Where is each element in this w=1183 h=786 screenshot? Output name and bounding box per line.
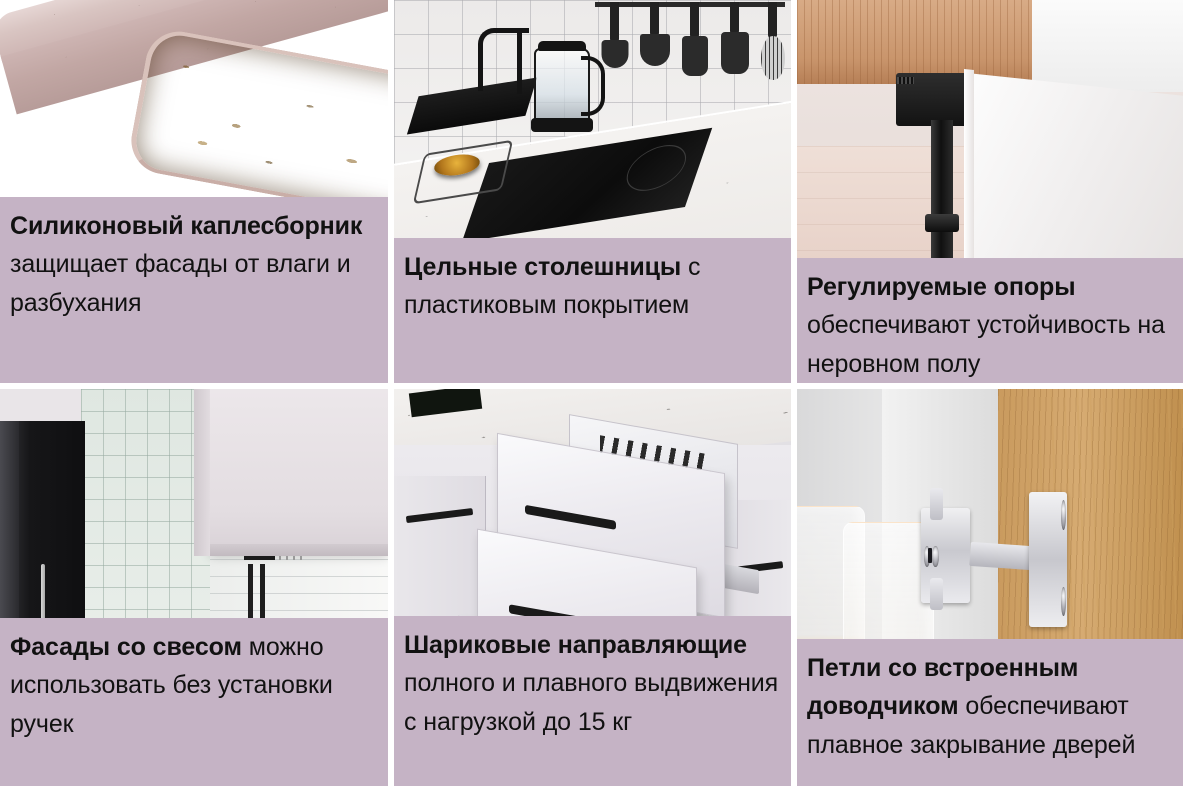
- caption-bold-text: Шариковые направляющие: [404, 631, 747, 659]
- turner-icon: [690, 2, 699, 38]
- feature-card-adjustable-legs[interactable]: Регулируемые опоры обеспечивают устойчив…: [797, 0, 1183, 383]
- spoon-icon: [730, 2, 739, 34]
- caption-rest-text: обеспечивают устойчивость на неровном по…: [807, 311, 1165, 377]
- caption-adjustable-legs: Регулируемые опоры обеспечивают устойчив…: [797, 258, 1183, 383]
- whisk-icon: [768, 2, 777, 38]
- caption-bold-text: Цельные столешницы: [404, 253, 681, 281]
- caption-soft-close-hinges: Петли со встроенным доводчиком обеспечив…: [797, 639, 1183, 786]
- feature-card-silicone-drip-catcher[interactable]: Силиконовый каплесборник защищает фасады…: [0, 0, 388, 383]
- concealed-hinge: [921, 492, 1068, 627]
- caption-bold-text: Фасады со свесом: [10, 633, 242, 661]
- caption-bold-text: Силиконовый каплесборник: [10, 212, 362, 240]
- screw-icon: [1061, 500, 1066, 530]
- ladle-icon: [650, 2, 659, 36]
- caption-rest-text: полного и плавного выдвижения с нагрузко…: [404, 669, 778, 735]
- utensil-rail: [244, 556, 275, 560]
- features-grid: Силиконовый каплесборник защищает фасады…: [0, 0, 1183, 786]
- cabinet-body: [1032, 0, 1183, 92]
- screw-icon: [1061, 587, 1066, 617]
- caption-solid-countertops: Цельные столешницы с пластиковым покрыти…: [394, 238, 791, 383]
- caption-bold-text: Регулируемые опоры: [807, 273, 1075, 301]
- caption-silicone-drip-catcher: Силиконовый каплесборник защищает фасады…: [0, 197, 388, 383]
- upper-cabinet-overhang: [210, 389, 388, 552]
- caption-rest-text: защищает фасады от влаги и разбухания: [10, 250, 351, 316]
- caption-overhang-facades: Фасады со свесом можно использовать без …: [0, 618, 388, 786]
- spatula-icon: [610, 2, 619, 42]
- feature-card-ball-bearing-slides[interactable]: Шариковые направляющие полного и плавног…: [394, 389, 791, 786]
- cabinet-bottom-wood-panel: [797, 0, 1044, 84]
- glass-kettle: [534, 48, 590, 126]
- caption-ball-bearing-slides: Шариковые направляющие полного и плавног…: [394, 616, 791, 786]
- feature-card-overhang-facades[interactable]: Фасады со свесом можно использовать без …: [0, 389, 388, 786]
- feature-card-soft-close-hinges[interactable]: Петли со встроенным доводчиком обеспечив…: [797, 389, 1183, 786]
- feature-card-solid-countertops[interactable]: Цельные столешницы с пластиковым покрыти…: [394, 0, 791, 383]
- drawer-handle: [525, 504, 616, 529]
- screw-icon: [932, 546, 938, 567]
